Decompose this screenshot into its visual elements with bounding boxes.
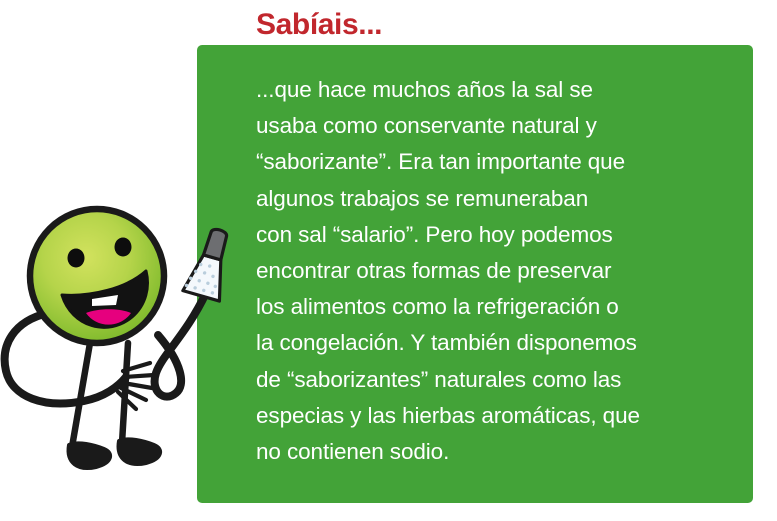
mascot-left-leg: [72, 343, 90, 447]
mascot-left-eye: [68, 249, 85, 268]
mascot-right-foot: [119, 439, 161, 464]
illustration-canvas: Sabíais... ...que hace muchos años la sa…: [0, 0, 777, 521]
salt-shaker-cap: [204, 228, 229, 260]
mascot-right-arm: [155, 293, 206, 397]
callout-body-text: ...que hace muchos años la sal se usaba …: [256, 72, 726, 470]
mascot-illustration: [0, 195, 260, 505]
salt-shaker-body: [183, 252, 231, 301]
mascot-right-leg: [122, 343, 128, 443]
mascot-left-foot: [69, 443, 111, 468]
page-title: Sabíais...: [256, 8, 382, 42]
mascot-right-eye: [115, 238, 132, 257]
salt-shaker-icon: [183, 225, 238, 301]
mascot-svg: [0, 195, 260, 505]
